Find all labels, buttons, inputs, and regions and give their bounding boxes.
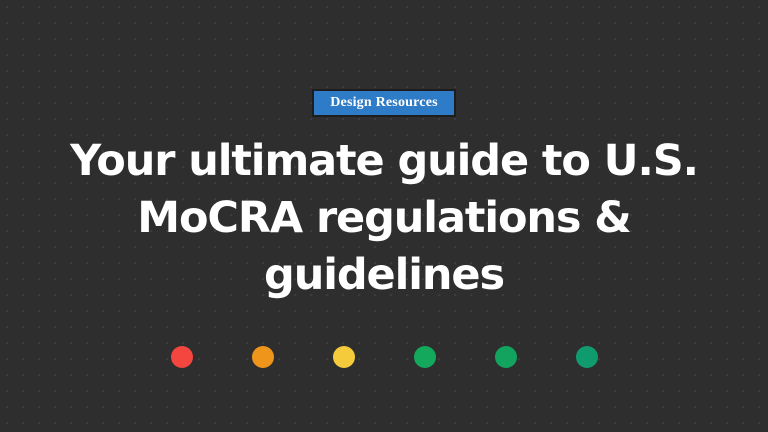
color-dot-orange <box>252 346 274 368</box>
page-title-line-1: Your ultimate guide to U.S. <box>52 133 716 190</box>
page-title: Your ultimate guide to U.S. MoCRA regula… <box>0 133 768 304</box>
slide-content: Design Resources Your ultimate guide to … <box>0 0 768 432</box>
page-title-line-2: MoCRA regulations & <box>52 190 716 247</box>
slide-canvas: Design Resources Your ultimate guide to … <box>0 0 768 432</box>
color-dot-teal-green <box>576 346 598 368</box>
color-dot-yellow <box>333 346 355 368</box>
badge-container: Design Resources <box>0 89 768 117</box>
page-title-line-3: guidelines <box>52 247 716 304</box>
color-dot-red <box>171 346 193 368</box>
color-dot-green-2 <box>495 346 517 368</box>
category-badge[interactable]: Design Resources <box>312 89 456 117</box>
color-dot-green <box>414 346 436 368</box>
color-dot-row <box>0 346 768 368</box>
